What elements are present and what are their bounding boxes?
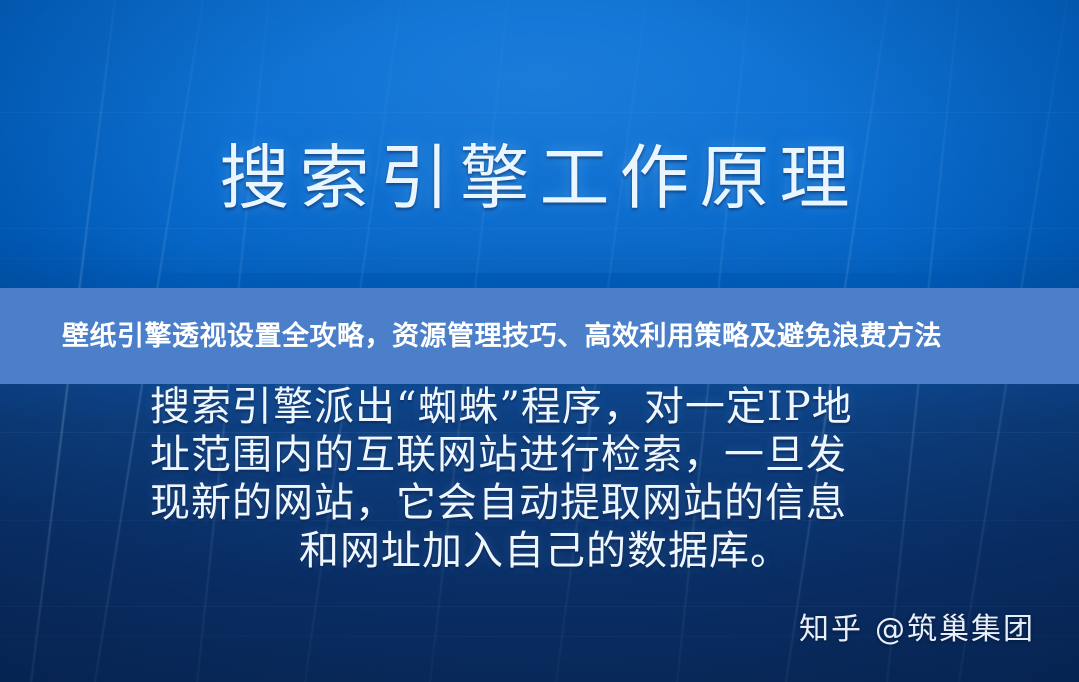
article-title-text: 壁纸引擎透视设置全攻略，资源管理技巧、高效利用策略及避免浪费方法 [0,316,1079,356]
slide-body-text: 搜索引擎派出“蜘蛛”程序，对一定IP地 址范围内的互联网站进行检索，一旦发 现新… [150,383,940,575]
watermark-brand: 知乎 [799,604,863,648]
article-title-banner: 壁纸引擎透视设置全攻略，资源管理技巧、高效利用策略及避免浪费方法 [0,288,1079,384]
slide-body-line: 和网址加入自己的数据库。 [150,527,940,575]
slide-body-line: 址范围内的互联网站进行检索，一旦发 [150,431,940,479]
slide-body-line: 现新的网站，它会自动提取网站的信息 [150,479,940,527]
watermark-username: @筑巢集团 [875,604,1035,648]
screenshot-canvas: 搜索引擎工作原理 搜索引擎派出“蜘蛛”程序，对一定IP地 址范围内的互联网站进行… [0,0,1079,682]
slide-body-line: 搜索引擎派出“蜘蛛”程序，对一定IP地 [150,383,940,431]
slide-heading: 搜索引擎工作原理 [0,136,1079,220]
watermark: 知乎 @筑巢集团 [799,604,1035,648]
